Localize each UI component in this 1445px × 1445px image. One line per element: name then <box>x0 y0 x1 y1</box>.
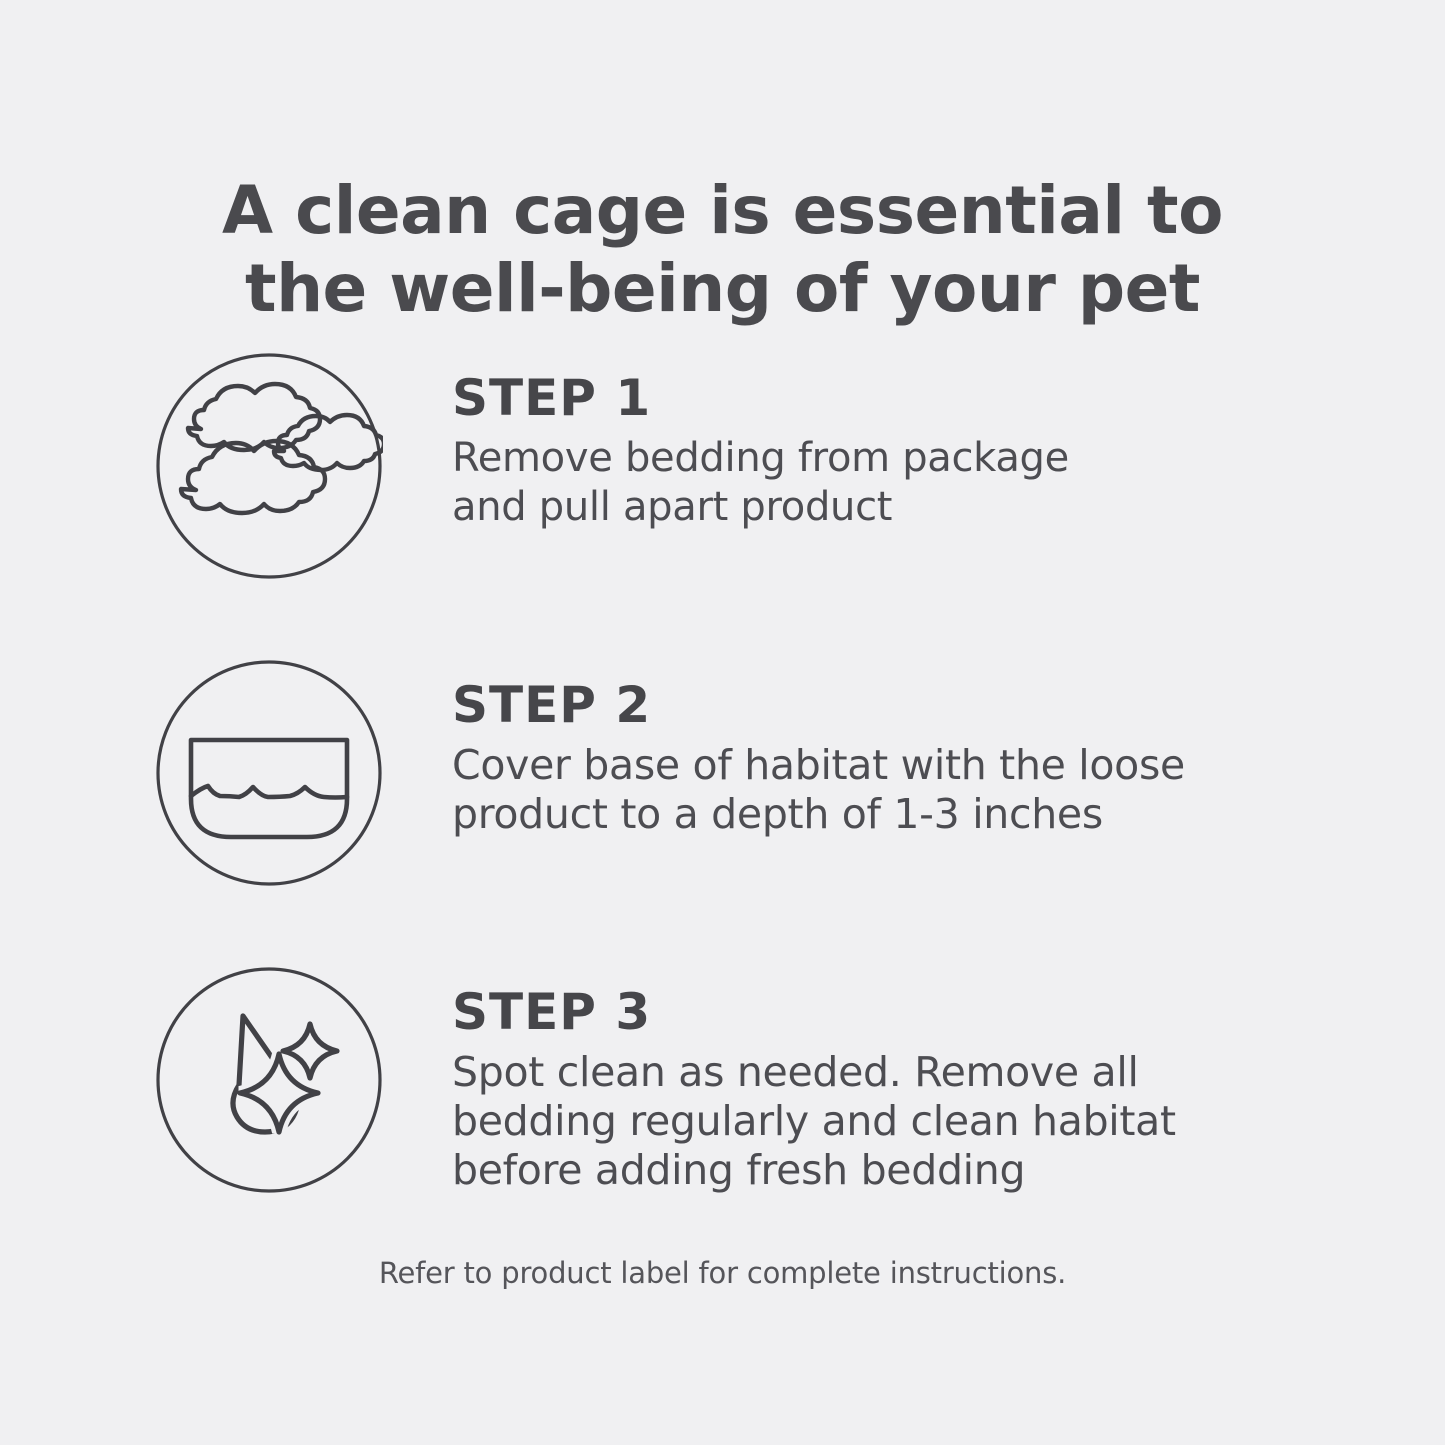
step-description-1: Remove bedding from package and pull apa… <box>452 434 1352 532</box>
step-text-3: STEP 3 Spot clean as needed. Remove all … <box>452 984 1352 1195</box>
step-title-1: STEP 1 <box>452 370 1352 426</box>
step-description-2-line-2: product to a depth of 1-3 inches <box>452 790 1352 839</box>
step-item-3: STEP 3 Spot clean as needed. Remove all … <box>0 966 1445 1273</box>
step-description-3-line-3: before adding fresh bedding <box>452 1146 1352 1195</box>
habitat-base-bedding-icon <box>155 659 383 887</box>
step-title-2: STEP 2 <box>452 677 1352 733</box>
step-item-1: STEP 1 Remove bedding from package and p… <box>0 352 1445 659</box>
page-title-line-2: the well-being of your pet <box>140 250 1305 328</box>
step-description-3-line-2: bedding regularly and clean habitat <box>452 1097 1352 1146</box>
step-description-3: Spot clean as needed. Remove all bedding… <box>452 1048 1352 1195</box>
step-description-1-line-1: Remove bedding from package <box>452 434 1352 483</box>
step-description-2: Cover base of habitat with the loose pro… <box>452 741 1352 839</box>
instruction-infographic: A clean cage is essential to the well-be… <box>0 0 1445 1445</box>
step-text-2: STEP 2 Cover base of habitat with the lo… <box>452 677 1352 839</box>
page-title-line-1: A clean cage is essential to <box>140 172 1305 250</box>
footer-note: Refer to product label for complete inst… <box>0 1255 1445 1291</box>
steps-list: STEP 1 Remove bedding from package and p… <box>0 352 1445 1273</box>
step-text-1: STEP 1 Remove bedding from package and p… <box>452 370 1352 532</box>
step-description-2-line-1: Cover base of habitat with the loose <box>452 741 1352 790</box>
bedding-clouds-icon <box>155 352 383 580</box>
droplet-sparkle-clean-icon <box>155 966 383 1194</box>
step-title-3: STEP 3 <box>452 984 1352 1040</box>
step-description-3-line-1: Spot clean as needed. Remove all <box>452 1048 1352 1097</box>
step-description-1-line-2: and pull apart product <box>452 483 1352 532</box>
page-title: A clean cage is essential to the well-be… <box>0 172 1445 328</box>
step-item-2: STEP 2 Cover base of habitat with the lo… <box>0 659 1445 966</box>
